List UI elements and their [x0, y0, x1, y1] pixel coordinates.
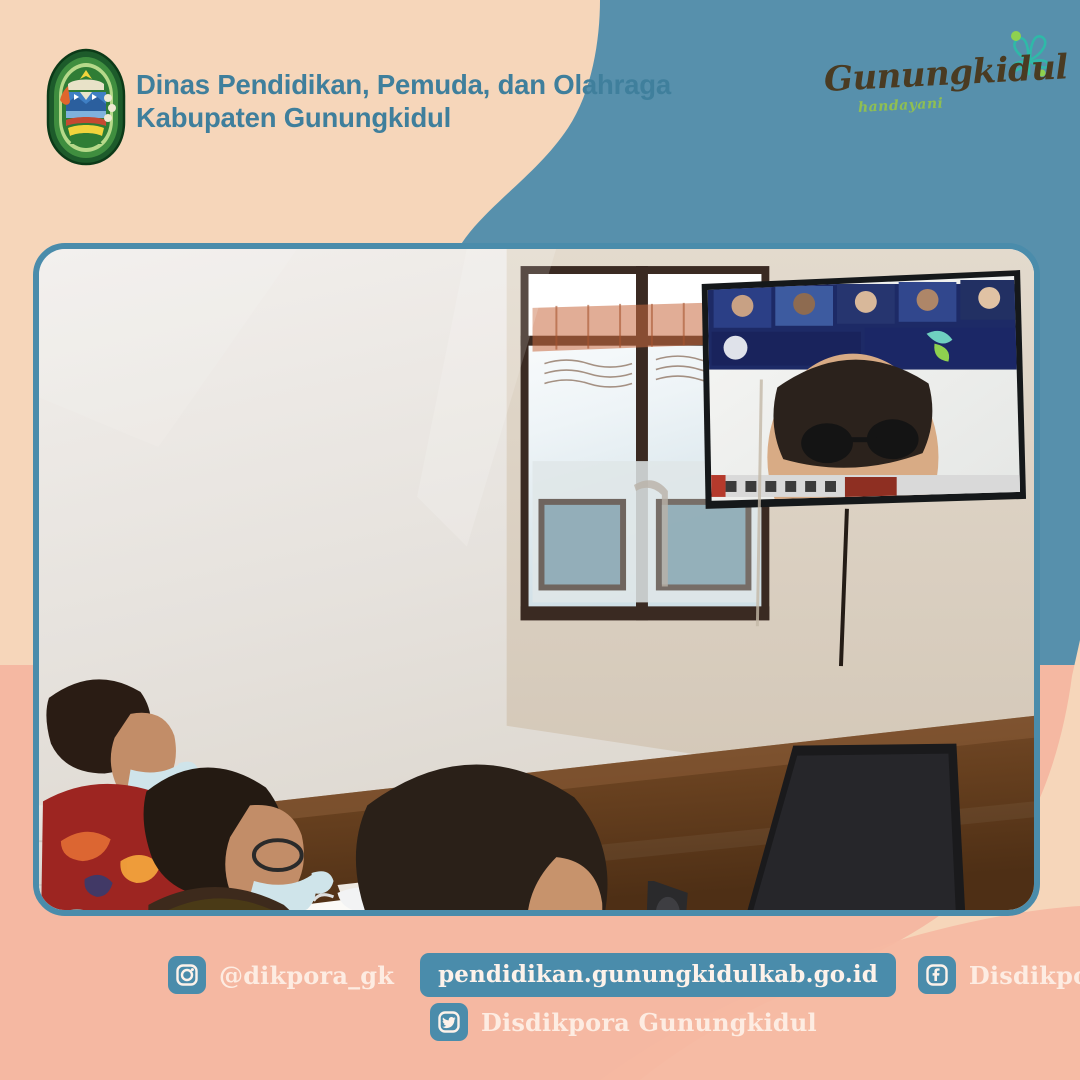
facebook-label: Disdikpora Gunungkidul [969, 961, 1080, 990]
facebook-handle[interactable]: Disdikpora Gunungkidul [918, 956, 1080, 994]
instagram-label: @dikpora_gk [219, 961, 394, 990]
twitter-handle[interactable]: Disdikpora Gunungkidul [430, 1003, 817, 1041]
meeting-photo [39, 249, 1034, 910]
website-url-pill[interactable]: pendidikan.gunungkidulkab.go.id [420, 953, 896, 997]
instagram-handle[interactable]: @dikpora_gk [168, 956, 394, 994]
poster-header: Dinas Pendidikan, Pemuda, dan Olahraga K… [0, 0, 720, 190]
page-title-line-1: Dinas Pendidikan, Pemuda, dan Olahraga [136, 68, 696, 101]
header-title-block: Dinas Pendidikan, Pemuda, dan Olahraga K… [136, 68, 696, 134]
gunungkidul-brand-lockup: Gunungkidul handayani [824, 38, 1054, 130]
photo-frame [33, 243, 1040, 916]
poster-footer: @dikpora_gk pendidikan.gunungkidulkab.go… [0, 935, 1080, 1080]
poster-canvas: Dinas Pendidikan, Pemuda, dan Olahraga K… [0, 0, 1080, 1080]
brand-wordmark: Gunungkidul [823, 50, 1025, 100]
gunungkidul-regency-crest-icon [44, 48, 128, 166]
footer-row-secondary: Disdikpora Gunungkidul [430, 1003, 817, 1041]
facebook-icon[interactable] [918, 956, 956, 994]
brand-tagline: handayani [858, 96, 944, 116]
footer-row-primary: @dikpora_gk pendidikan.gunungkidulkab.go… [168, 953, 1080, 997]
instagram-icon[interactable] [168, 956, 206, 994]
twitter-label: Disdikpora Gunungkidul [481, 1008, 817, 1037]
page-title-line-2: Kabupaten Gunungkidul [136, 101, 696, 134]
twitter-icon[interactable] [430, 1003, 468, 1041]
